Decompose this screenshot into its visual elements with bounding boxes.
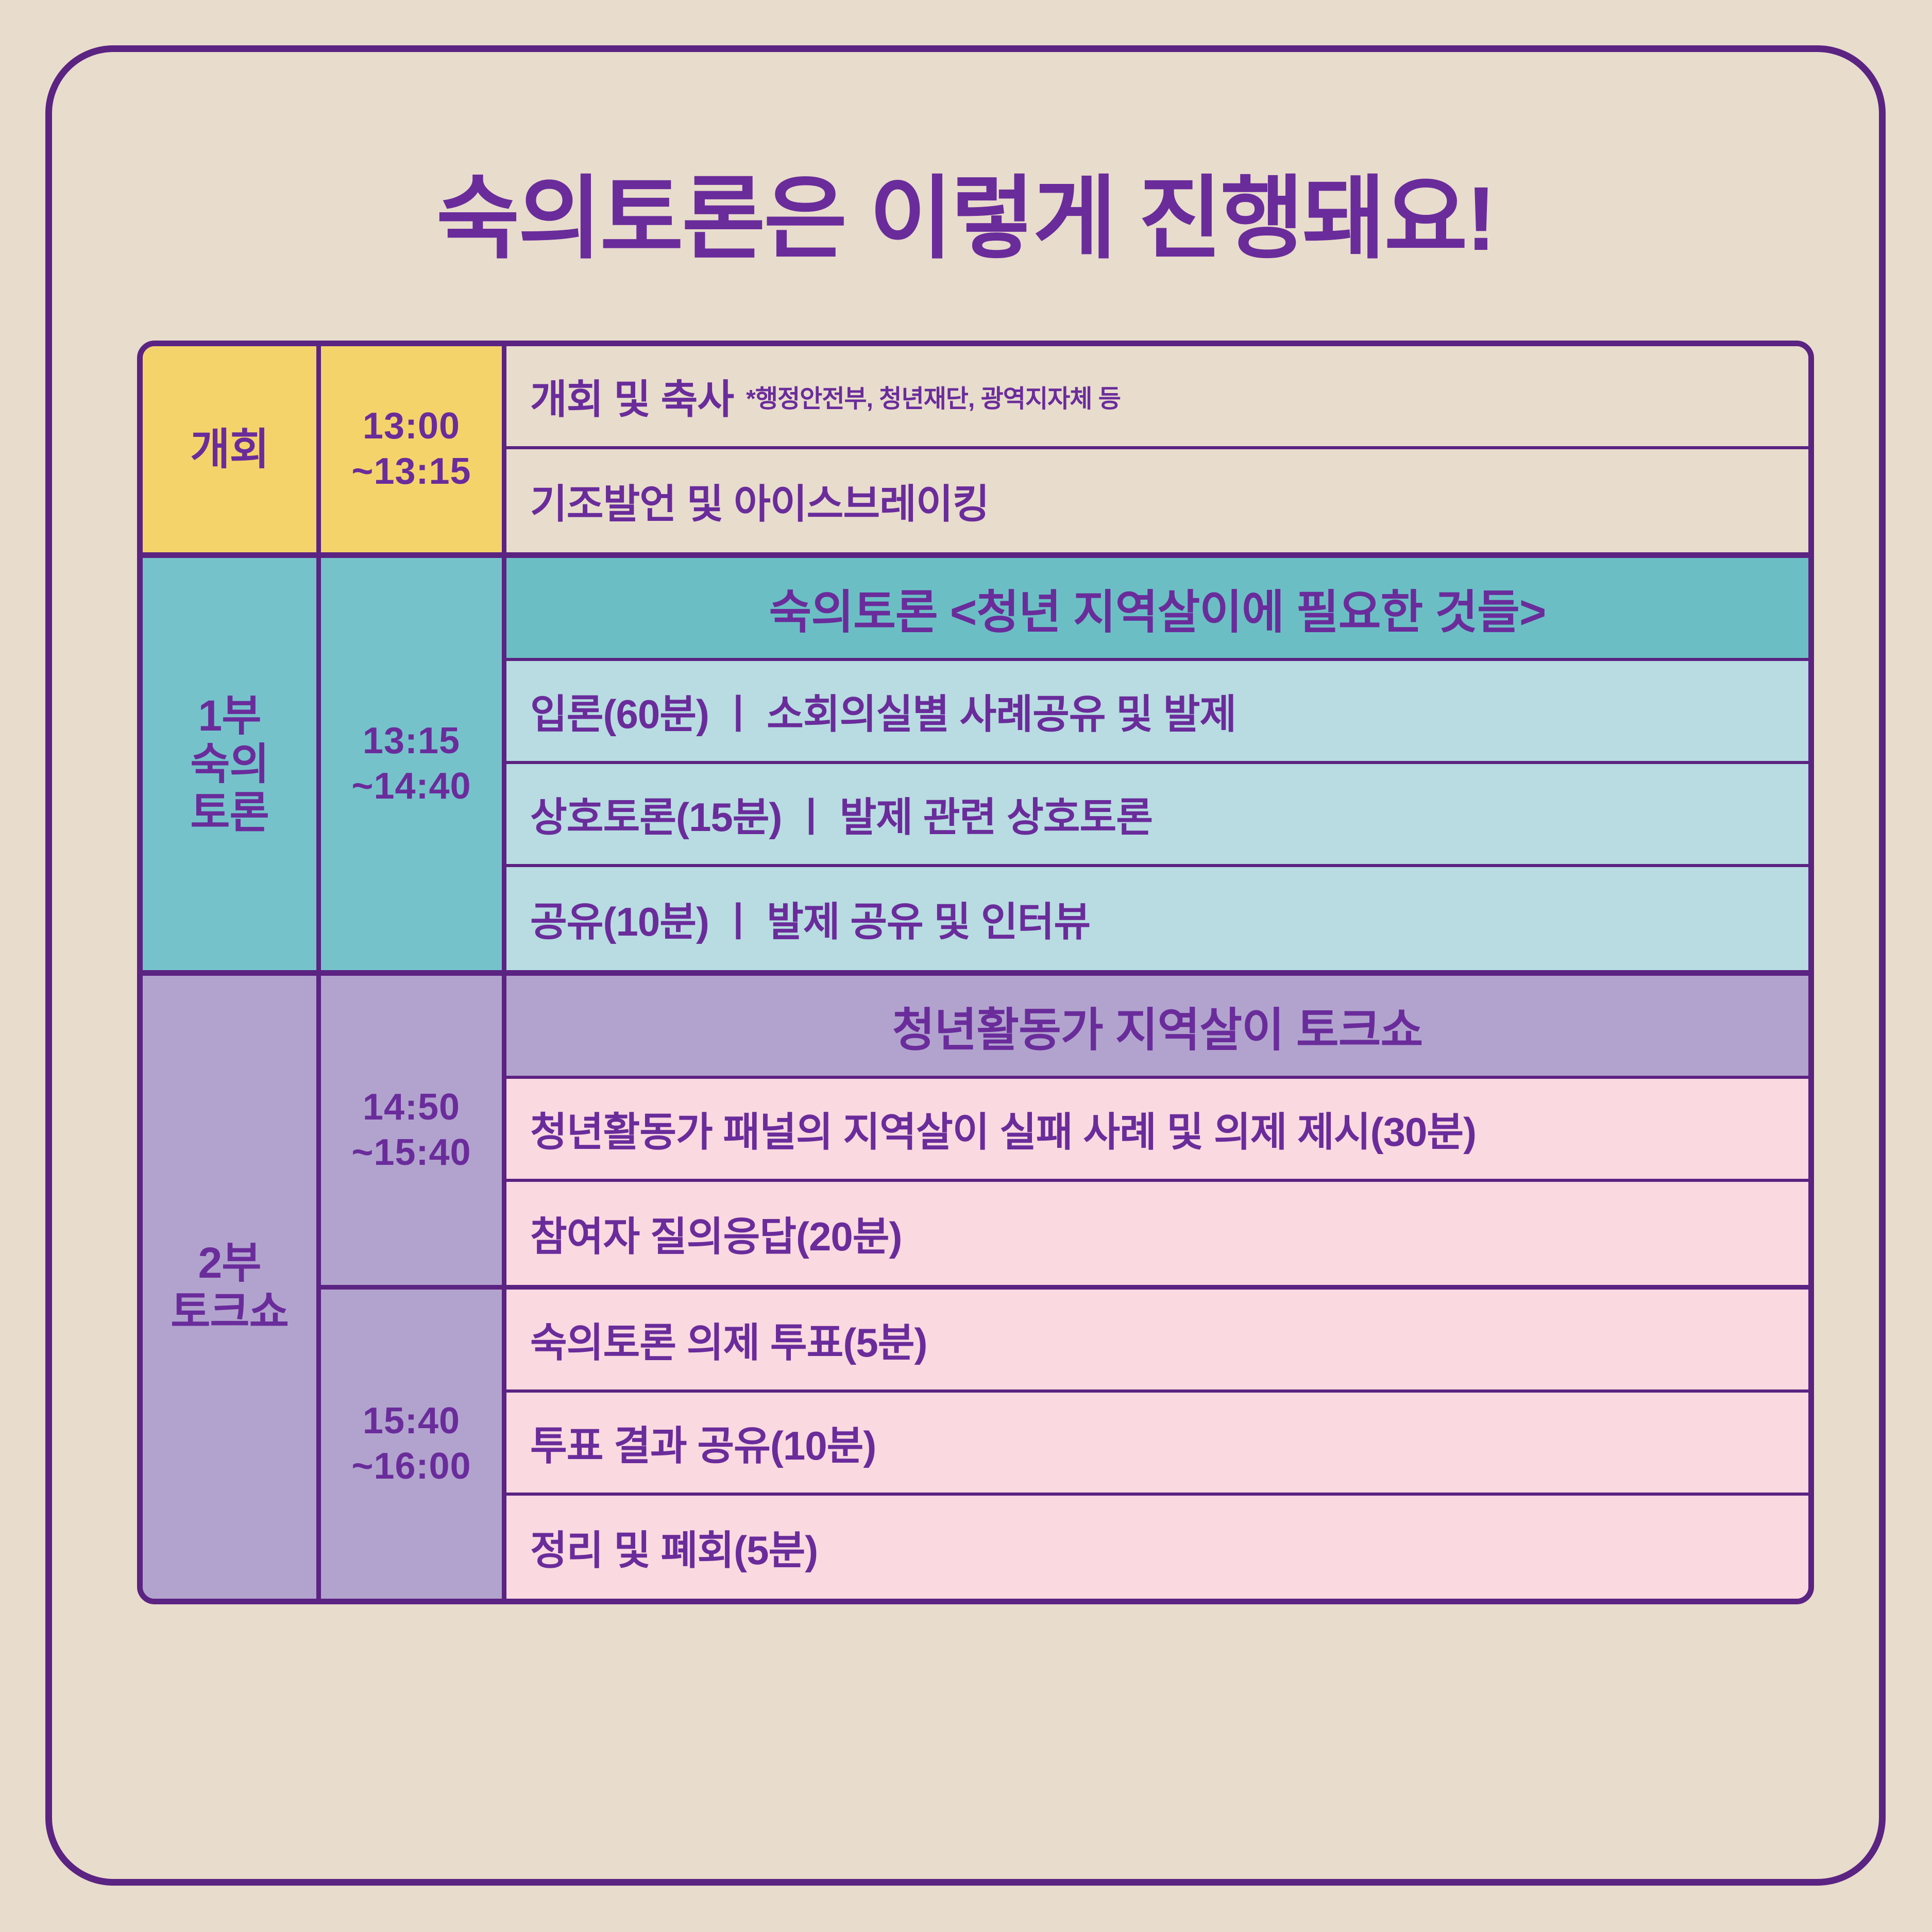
agenda-rows: 개회 및 축사*행정안전부, 청년재단, 광역지자체 등기조발언 및 아이스브레… bbox=[506, 346, 1808, 552]
section-body: 13:00 ~13:15개회 및 축사*행정안전부, 청년재단, 광역지자체 등… bbox=[321, 346, 1808, 552]
schedule-section: 개회13:00 ~13:15개회 및 축사*행정안전부, 청년재단, 광역지자체… bbox=[143, 346, 1808, 558]
agenda-row: 정리 및 폐회(5분) bbox=[506, 1496, 1808, 1599]
time-block: 13:15 ~14:40숙의토론 <청년 지역살이에 필요한 것들>입론(60분… bbox=[321, 558, 1808, 970]
agenda-text: 청년활동가 지역살이 토크쇼 bbox=[892, 992, 1423, 1059]
page-title: 숙의토론은 이렇게 진행돼요! bbox=[52, 145, 1879, 276]
agenda-text: 숙의토론 <청년 지역살이에 필요한 것들> bbox=[769, 574, 1546, 641]
section-label: 2부 토크쇼 bbox=[143, 976, 321, 1599]
agenda-rows: 숙의토론 의제 투표(5분)투표 결과 공유(10분)정리 및 폐회(5분) bbox=[506, 1290, 1808, 1599]
agenda-row: 숙의토론 의제 투표(5분) bbox=[506, 1290, 1808, 1393]
agenda-row: 청년활동가 패널의 지역살이 실패 사례 및 의제 제시(30분) bbox=[506, 1079, 1808, 1182]
agenda-group-header: 청년활동가 지역살이 토크쇼 bbox=[506, 976, 1808, 1079]
agenda-rows: 청년활동가 지역살이 토크쇼청년활동가 패널의 지역살이 실패 사례 및 의제 … bbox=[506, 976, 1808, 1285]
agenda-text: 투표 결과 공유(10분) bbox=[530, 1414, 876, 1471]
agenda-text: 참여자 질의응답(20분) bbox=[530, 1205, 902, 1262]
section-label: 개회 bbox=[143, 346, 321, 552]
agenda-row: 투표 결과 공유(10분) bbox=[506, 1393, 1808, 1496]
agenda-text: 숙의토론 의제 투표(5분) bbox=[530, 1311, 927, 1368]
agenda-row: 상호토론(15분) ㅣ 발제 관련 상호토론 bbox=[506, 764, 1808, 867]
schedule-table: 개회13:00 ~13:15개회 및 축사*행정안전부, 청년재단, 광역지자체… bbox=[137, 341, 1814, 1604]
agenda-text: 공유(10분) ㅣ 발제 공유 및 인터뷰 bbox=[530, 890, 1090, 947]
agenda-text: 정리 및 폐회(5분) bbox=[530, 1518, 818, 1576]
schedule-section: 2부 토크쇼14:50 ~15:40청년활동가 지역살이 토크쇼청년활동가 패널… bbox=[143, 976, 1808, 1599]
agenda-text: 기조발언 및 아이스브레이킹 bbox=[530, 472, 989, 530]
time-block: 13:00 ~13:15개회 및 축사*행정안전부, 청년재단, 광역지자체 등… bbox=[321, 346, 1808, 552]
agenda-note: *행정안전부, 청년재단, 광역지자체 등 bbox=[746, 378, 1121, 414]
agenda-text: 입론(60분) ㅣ 소회의실별 사례공유 및 발제 bbox=[530, 682, 1236, 740]
schedule-section: 1부 숙의 토론13:15 ~14:40숙의토론 <청년 지역살이에 필요한 것… bbox=[143, 558, 1808, 976]
section-body: 14:50 ~15:40청년활동가 지역살이 토크쇼청년활동가 패널의 지역살이… bbox=[321, 976, 1808, 1599]
agenda-rows: 숙의토론 <청년 지역살이에 필요한 것들>입론(60분) ㅣ 소회의실별 사례… bbox=[506, 558, 1808, 970]
agenda-text: 상호토론(15분) ㅣ 발제 관련 상호토론 bbox=[530, 785, 1153, 843]
agenda-group-header: 숙의토론 <청년 지역살이에 필요한 것들> bbox=[506, 558, 1808, 661]
agenda-row: 개회 및 축사*행정안전부, 청년재단, 광역지자체 등 bbox=[506, 346, 1808, 449]
section-body: 13:15 ~14:40숙의토론 <청년 지역살이에 필요한 것들>입론(60분… bbox=[321, 558, 1808, 970]
time-block: 14:50 ~15:40청년활동가 지역살이 토크쇼청년활동가 패널의 지역살이… bbox=[321, 976, 1808, 1290]
agenda-row: 참여자 질의응답(20분) bbox=[506, 1182, 1808, 1285]
poster-frame: 숙의토론은 이렇게 진행돼요! 개회13:00 ~13:15개회 및 축사*행정… bbox=[45, 45, 1886, 1886]
agenda-text: 청년활동가 패널의 지역살이 실패 사례 및 의제 제시(30분) bbox=[530, 1100, 1476, 1158]
section-label: 1부 숙의 토론 bbox=[143, 558, 321, 970]
agenda-text: 개회 및 축사 bbox=[530, 367, 734, 425]
time-range: 13:00 ~13:15 bbox=[321, 346, 506, 552]
agenda-row: 기조발언 및 아이스브레이킹 bbox=[506, 449, 1808, 552]
time-range: 14:50 ~15:40 bbox=[321, 976, 506, 1285]
agenda-row: 공유(10분) ㅣ 발제 공유 및 인터뷰 bbox=[506, 867, 1808, 970]
agenda-row: 입론(60분) ㅣ 소회의실별 사례공유 및 발제 bbox=[506, 661, 1808, 764]
time-block: 15:40 ~16:00숙의토론 의제 투표(5분)투표 결과 공유(10분)정… bbox=[321, 1290, 1808, 1599]
time-range: 13:15 ~14:40 bbox=[321, 558, 506, 970]
time-range: 15:40 ~16:00 bbox=[321, 1290, 506, 1599]
